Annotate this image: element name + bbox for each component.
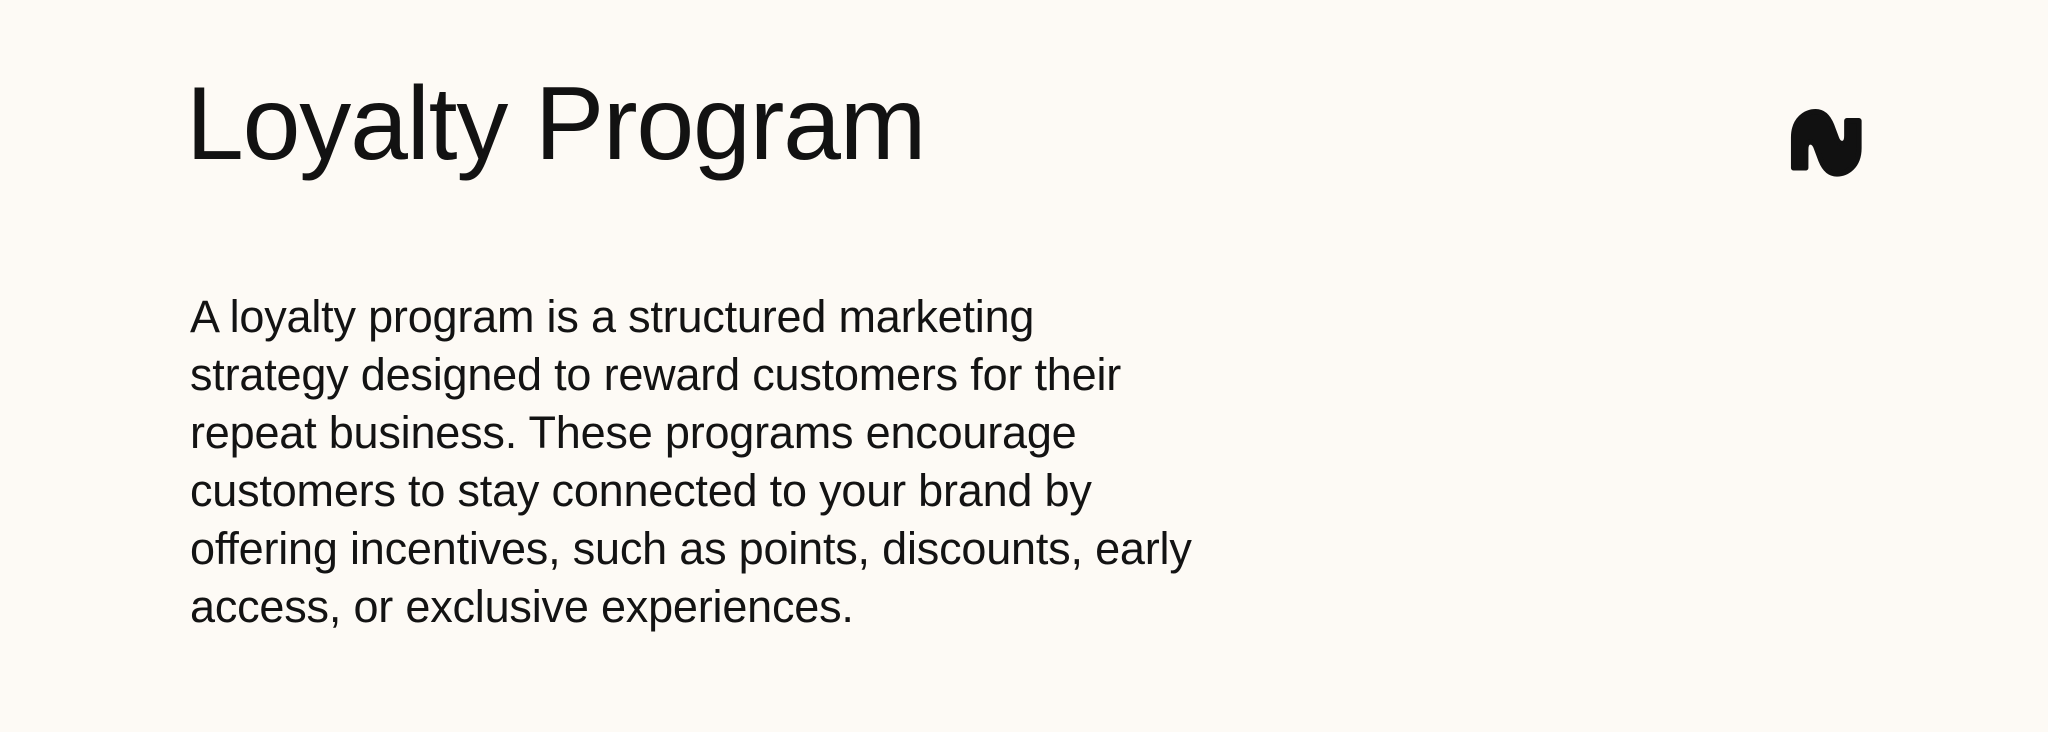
wavy-n-brand-logo-icon bbox=[1786, 104, 1862, 180]
page-title: Loyalty Program bbox=[186, 72, 925, 176]
slide-canvas: Loyalty Program A loyalty program is a s… bbox=[0, 0, 2048, 732]
slide-header: Loyalty Program bbox=[190, 72, 1862, 192]
body-paragraph: A loyalty program is a structured market… bbox=[190, 288, 1550, 636]
